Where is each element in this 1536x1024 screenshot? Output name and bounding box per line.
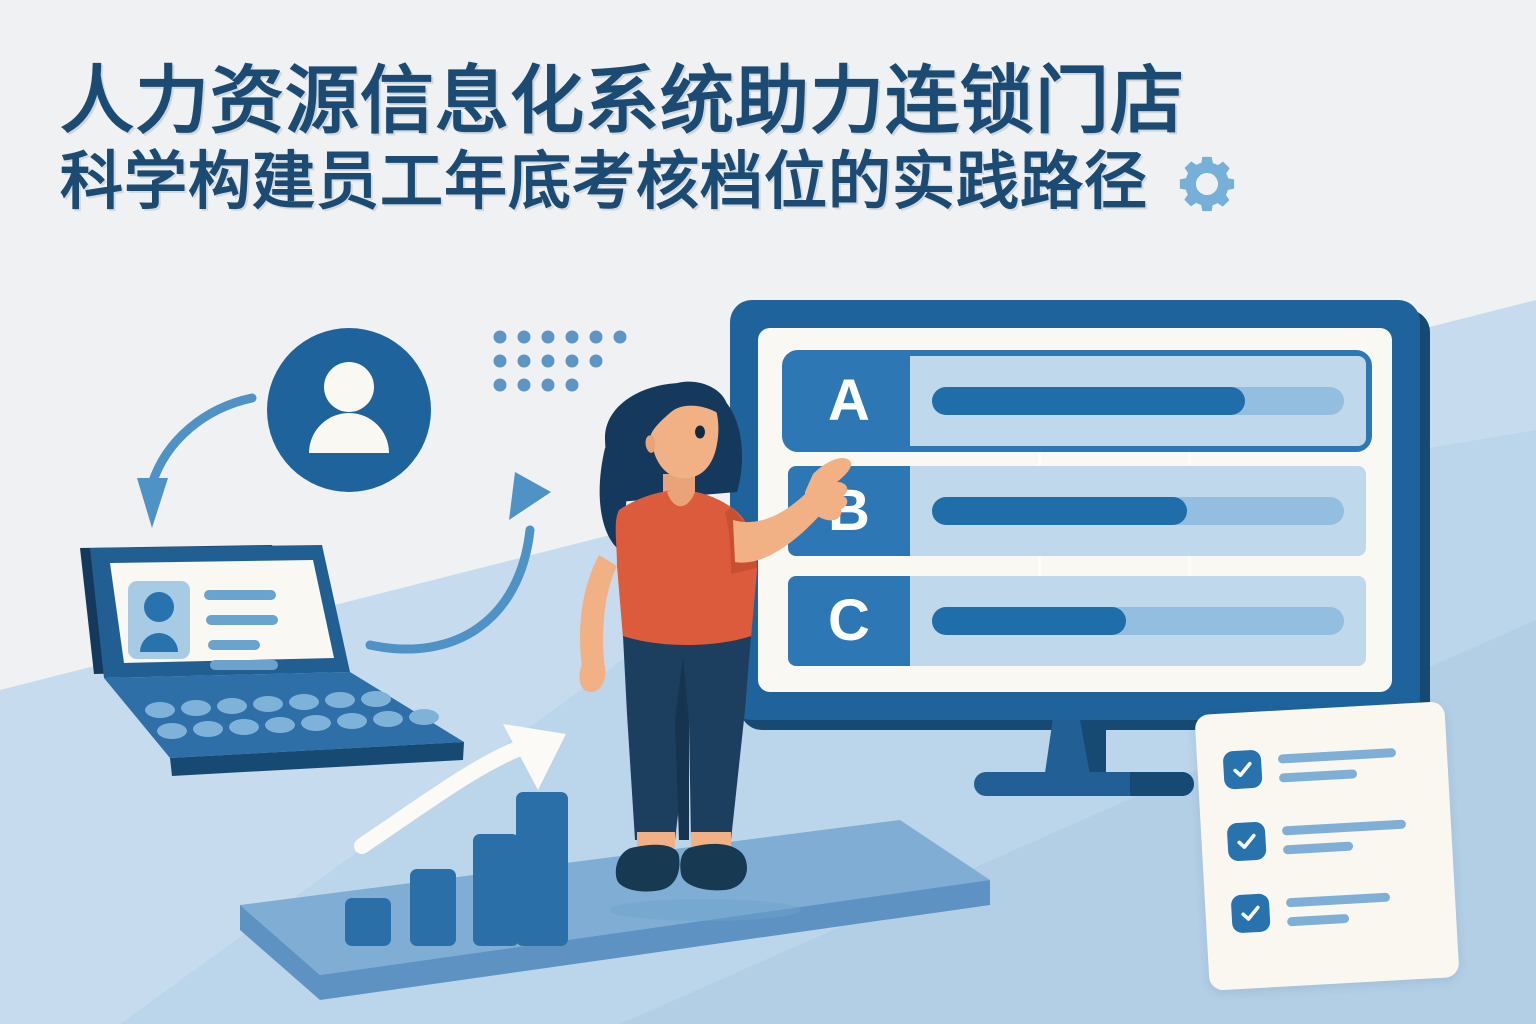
table-row[interactable]: B: [788, 466, 1366, 556]
checkbox-checked-icon[interactable]: [1227, 821, 1267, 861]
bar-1: [345, 898, 391, 946]
evaluation-checklist-card[interactable]: [1194, 701, 1459, 991]
progress-cell-b: [910, 466, 1366, 556]
progress-fill-b: [932, 497, 1187, 525]
table-row[interactable]: A: [788, 356, 1366, 446]
banner-heading: 人力资源信息化系统助力连锁门店 科学构建员工年底考核档位的实践路径: [60, 62, 1490, 216]
list-item-lines: [1282, 814, 1408, 855]
page-title-line2: 科学构建员工年底考核档位的实践路径: [60, 148, 1148, 216]
progress-fill-a: [932, 387, 1245, 415]
bar-3: [473, 834, 519, 946]
text-line: [1282, 820, 1406, 836]
illustration-canvas: 人力资源信息化系统助力连锁门店 科学构建员工年底考核档位的实践路径: [0, 0, 1536, 1024]
text-line: [1287, 914, 1349, 926]
list-item[interactable]: [1227, 814, 1408, 862]
subtitle-row: 科学构建员工年底考核档位的实践路径: [60, 148, 1490, 216]
progress-cell-a: [910, 356, 1366, 446]
page-title-line1: 人力资源信息化系统助力连锁门店: [60, 62, 1490, 140]
list-item[interactable]: [1223, 742, 1398, 790]
list-item[interactable]: [1231, 887, 1392, 934]
bar-2: [410, 869, 456, 946]
progress-fill-c: [932, 607, 1126, 635]
text-line: [1283, 842, 1353, 855]
monitor-base-shadow: [1130, 772, 1194, 796]
checkbox-checked-icon[interactable]: [1231, 893, 1271, 933]
hr-staff-pointing: [555, 370, 855, 930]
list-item-lines: [1277, 742, 1397, 783]
text-line: [1278, 748, 1396, 764]
progress-cell-c: [910, 576, 1366, 666]
grade-table: A B: [788, 356, 1366, 666]
table-row[interactable]: C: [788, 576, 1366, 666]
text-line: [1286, 893, 1390, 908]
text-line: [1279, 769, 1357, 782]
list-item-lines: [1286, 887, 1392, 927]
gear-icon: [1176, 153, 1238, 215]
checkbox-checked-icon[interactable]: [1223, 750, 1263, 790]
